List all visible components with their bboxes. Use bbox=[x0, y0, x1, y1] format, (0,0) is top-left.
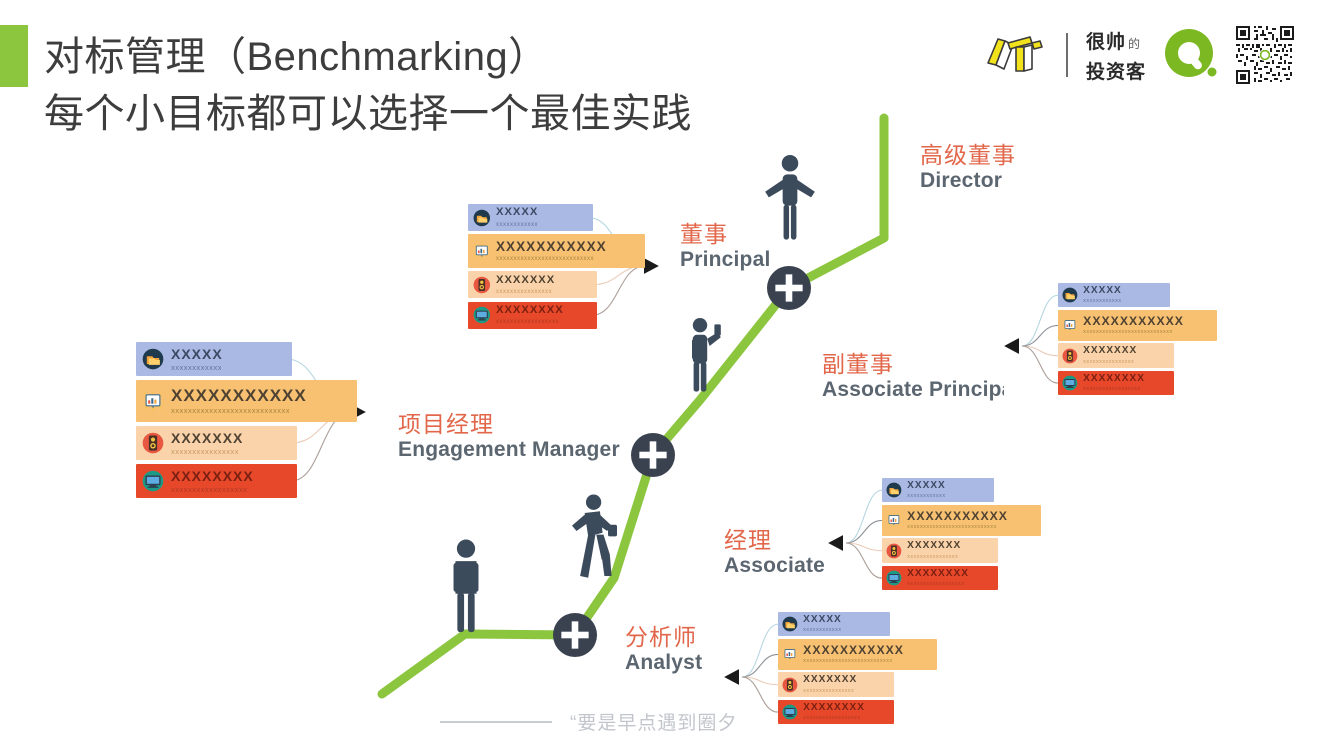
monitor-icon bbox=[473, 306, 491, 324]
card-text: XXXXXXXXxxxxxxxxxxxxxxxxxx bbox=[803, 703, 865, 721]
speaker-icon bbox=[782, 677, 798, 693]
green-q-logo-icon bbox=[1164, 28, 1218, 82]
card-subtitle: xxxxxxxxxxxxxxxx bbox=[496, 289, 555, 295]
role-label-director: 高级董事Director bbox=[920, 143, 1016, 195]
shuai-yellow-logo-icon bbox=[982, 29, 1048, 81]
card-connector-line bbox=[742, 677, 778, 685]
brand-divider bbox=[1066, 33, 1068, 77]
card-connector-line bbox=[1022, 325, 1058, 346]
card-item[interactable]: XXXXXXXXXXXxxxxxxxxxxxxxxxxxxxxxxxxxxxx bbox=[136, 380, 357, 422]
qr-code-icon bbox=[1236, 26, 1294, 84]
card-subtitle: xxxxxxxxxxxxxxxx bbox=[803, 689, 857, 694]
role-label-cn: 经理 bbox=[724, 528, 826, 553]
card-text: XXXXXXXxxxxxxxxxxxxxxxx bbox=[496, 275, 555, 295]
card-item[interactable]: XXXXXXXxxxxxxxxxxxxxxxx bbox=[882, 538, 998, 562]
title-line-2: 每个小目标都可以选择一个最佳实践 bbox=[44, 89, 692, 140]
role-label-en: Analyst bbox=[625, 650, 702, 676]
card-text: XXXXXXXXxxxxxxxxxxxxxxxxxx bbox=[496, 305, 564, 325]
card-subtitle: xxxxxxxxxxxxxxxx bbox=[907, 555, 961, 560]
brand-name-top-suffix: 的 bbox=[1128, 35, 1140, 52]
brand-name-bottom: 投资客 bbox=[1086, 57, 1146, 84]
card-connector-line bbox=[846, 543, 882, 551]
card-item[interactable]: XXXXXXXxxxxxxxxxxxxxxxx bbox=[468, 271, 597, 298]
figure-standing-top bbox=[765, 155, 815, 240]
card-text: XXXXXXXxxxxxxxxxxxxxxxx bbox=[907, 541, 961, 559]
card-title: XXXXX bbox=[171, 347, 223, 361]
card-title: XXXXXXX bbox=[496, 275, 555, 286]
group-associate: XXXXXxxxxxxxxxxxx XXXXXXXXXXXxxxxxxxxxxx… bbox=[882, 478, 1041, 593]
group-associate-principal: XXXXXxxxxxxxxxxxx XXXXXXXXXXXxxxxxxxxxxx… bbox=[1058, 283, 1217, 398]
card-item[interactable]: XXXXXXXxxxxxxxxxxxxxxxx bbox=[136, 426, 297, 460]
card-item[interactable]: XXXXXXXxxxxxxxxxxxxxxxx bbox=[778, 672, 894, 696]
card-text: XXXXXXXXxxxxxxxxxxxxxxxxxx bbox=[171, 469, 254, 494]
card-title: XXXXXXXXXXX bbox=[1083, 315, 1184, 327]
card-connector-line bbox=[742, 624, 778, 677]
group-principal: XXXXXxxxxxxxxxxxx XXXXXXXXXXXxxxxxxxxxxx… bbox=[468, 204, 645, 332]
card-title: XXXXXXX bbox=[1083, 346, 1137, 356]
card-item[interactable]: XXXXXXXXxxxxxxxxxxxxxxxxxx bbox=[778, 700, 894, 724]
card-item[interactable]: XXXXXxxxxxxxxxxxx bbox=[882, 478, 994, 502]
role-label-cn: 董事 bbox=[680, 222, 771, 247]
watermark-text: “要是早点遇到圈夕 bbox=[570, 708, 737, 735]
card-title: XXXXXXX bbox=[171, 431, 243, 445]
card-subtitle: xxxxxxxxxxxx bbox=[496, 222, 538, 228]
card-text: XXXXXxxxxxxxxxxxx bbox=[803, 615, 842, 633]
card-title: XXXXXXX bbox=[907, 541, 961, 551]
brand-cluster: 很帅 的 投资客 bbox=[982, 26, 1294, 84]
card-subtitle: xxxxxxxxxxxx bbox=[803, 628, 842, 633]
card-connector-line bbox=[846, 543, 882, 578]
card-title: XXXXXXXX bbox=[1083, 374, 1145, 384]
folder-icon bbox=[473, 209, 491, 227]
flow-arrowhead bbox=[828, 535, 843, 551]
card-item[interactable]: XXXXXXXXxxxxxxxxxxxxxxxxxx bbox=[468, 302, 597, 329]
card-text: XXXXXxxxxxxxxxxxx bbox=[907, 481, 946, 499]
monitor-icon bbox=[1062, 375, 1078, 391]
card-subtitle: xxxxxxxxxxxxxxxxxx bbox=[171, 486, 254, 494]
monitor-icon bbox=[142, 470, 164, 492]
title-line-1: 对标管理（Benchmarking） bbox=[44, 32, 692, 83]
card-title: XXXXX bbox=[803, 615, 842, 625]
brand-wordmark: 很帅 的 投资客 bbox=[1086, 27, 1146, 84]
card-connector-line bbox=[1022, 295, 1058, 346]
card-connector-line bbox=[742, 654, 778, 677]
card-subtitle: xxxxxxxxxxxxxxxxxxxxxxxxxxxx bbox=[496, 256, 607, 262]
card-text: XXXXXXXXXXXxxxxxxxxxxxxxxxxxxxxxxxxxxxx bbox=[496, 240, 607, 263]
node-analyst[interactable] bbox=[553, 613, 597, 657]
card-text: XXXXXXXXXXXxxxxxxxxxxxxxxxxxxxxxxxxxxxx bbox=[803, 644, 904, 665]
figure-standing-bottom bbox=[454, 540, 479, 633]
card-item[interactable]: XXXXXXXxxxxxxxxxxxxxxxx bbox=[1058, 343, 1174, 367]
card-title: XXXXX bbox=[907, 481, 946, 491]
figure-standing-middle bbox=[692, 318, 721, 392]
speaker-icon bbox=[1062, 348, 1078, 364]
card-title: XXXXXXXXXXX bbox=[496, 240, 607, 254]
role-label-en: Associate Principal bbox=[822, 377, 1004, 403]
card-subtitle: xxxxxxxxxxxxxxxxxxxxxxxxxxxx bbox=[171, 407, 307, 415]
card-item[interactable]: XXXXXXXXXXXxxxxxxxxxxxxxxxxxxxxxxxxxxxx bbox=[778, 639, 937, 669]
role-label-cn: 分析师 bbox=[625, 625, 702, 650]
folder-icon bbox=[142, 348, 164, 370]
page-title: 对标管理（Benchmarking） 每个小目标都可以选择一个最佳实践 bbox=[44, 32, 692, 140]
chart-board-icon bbox=[886, 513, 902, 529]
chart-board-icon bbox=[473, 242, 491, 260]
slide-canvas: 对标管理（Benchmarking） 每个小目标都可以选择一个最佳实践 很帅 的 bbox=[0, 0, 1334, 750]
flow-arrowhead bbox=[644, 258, 659, 274]
card-subtitle: xxxxxxxxxxxxxxxxxx bbox=[496, 319, 564, 325]
figure-walking bbox=[572, 495, 617, 578]
chart-board-icon bbox=[1062, 318, 1078, 334]
card-subtitle: xxxxxxxxxxxxxxxxxxxxxxxxxxxx bbox=[1083, 330, 1184, 335]
card-text: XXXXXXXXxxxxxxxxxxxxxxxxxx bbox=[907, 569, 969, 587]
role-label-cn: 副董事 bbox=[822, 352, 1004, 377]
card-title: XXXXXXXX bbox=[496, 305, 564, 316]
role-label-associate: 经理Associate bbox=[724, 528, 826, 580]
role-label-engagement-manager: 项目经理Engagement Manager bbox=[398, 412, 656, 464]
card-connector-line bbox=[1022, 346, 1058, 356]
card-connector-line bbox=[1022, 346, 1058, 383]
card-subtitle: xxxxxxxxxxxxxxxxxx bbox=[907, 582, 969, 587]
role-label-associate-principal: 副董事Associate Principal bbox=[822, 352, 1004, 404]
role-label-cn: 高级董事 bbox=[920, 143, 1016, 168]
card-title: XXXXXXXX bbox=[171, 469, 254, 483]
card-subtitle: xxxxxxxxxxxxxxxx bbox=[171, 448, 243, 456]
card-item[interactable]: XXXXXxxxxxxxxxxxx bbox=[1058, 283, 1170, 307]
folder-icon bbox=[886, 482, 902, 498]
card-title: XXXXX bbox=[1083, 286, 1122, 296]
card-item[interactable]: XXXXXXXXXXXxxxxxxxxxxxxxxxxxxxxxxxxxxxx bbox=[468, 234, 645, 268]
card-subtitle: xxxxxxxxxxxxxxxxxx bbox=[803, 716, 865, 721]
card-item[interactable]: XXXXXXXXxxxxxxxxxxxxxxxxxx bbox=[882, 566, 998, 590]
card-text: XXXXXXXXXXXxxxxxxxxxxxxxxxxxxxxxxxxxxxx bbox=[1083, 315, 1184, 336]
title-accent-bar bbox=[0, 25, 28, 87]
chart-board-icon bbox=[142, 390, 164, 412]
card-item[interactable]: XXXXXxxxxxxxxxxxx bbox=[136, 342, 292, 376]
folder-icon bbox=[782, 616, 798, 632]
group-engagement-manager: XXXXXxxxxxxxxxxxx XXXXXXXXXXXxxxxxxxxxxx… bbox=[136, 342, 357, 502]
group-analyst: XXXXXxxxxxxxxxxxx XXXXXXXXXXXxxxxxxxxxxx… bbox=[778, 612, 937, 727]
card-text: XXXXXXXxxxxxxxxxxxxxxxx bbox=[171, 431, 243, 456]
card-connector-line bbox=[846, 490, 882, 543]
role-label-en: Director bbox=[920, 168, 1016, 194]
card-text: XXXXXXXXXXXxxxxxxxxxxxxxxxxxxxxxxxxxxxx bbox=[907, 510, 1008, 531]
card-item[interactable]: XXXXXxxxxxxxxxxxx bbox=[468, 204, 593, 231]
card-text: XXXXXxxxxxxxxxxxx bbox=[171, 347, 223, 372]
card-title: XXXXXXXXXXX bbox=[171, 387, 307, 404]
card-item[interactable]: XXXXXXXXXXXxxxxxxxxxxxxxxxxxxxxxxxxxxxx bbox=[882, 505, 1041, 535]
card-item[interactable]: XXXXXXXXxxxxxxxxxxxxxxxxxx bbox=[1058, 371, 1174, 395]
card-text: XXXXXXXxxxxxxxxxxxxxxxx bbox=[803, 675, 857, 693]
node-principal[interactable] bbox=[767, 266, 811, 310]
role-label-cn: 项目经理 bbox=[398, 412, 656, 437]
card-title: XXXXXXXX bbox=[803, 703, 865, 713]
card-connector-line bbox=[742, 677, 778, 712]
role-label-en: Associate bbox=[724, 553, 826, 579]
speaker-icon bbox=[886, 543, 902, 559]
card-subtitle: xxxxxxxxxxxx bbox=[1083, 299, 1122, 304]
card-connector-line bbox=[846, 520, 882, 543]
watermark-line bbox=[440, 721, 552, 723]
card-subtitle: xxxxxxxxxxxx bbox=[907, 494, 946, 499]
role-label-principal: 董事Principal bbox=[680, 222, 771, 274]
card-subtitle: xxxxxxxxxxxx bbox=[171, 364, 223, 372]
card-title: XXXXXXXXXXX bbox=[907, 510, 1008, 522]
card-title: XXXXXXXX bbox=[907, 569, 969, 579]
card-subtitle: xxxxxxxxxxxxxxxx bbox=[1083, 360, 1137, 365]
flow-arrowhead bbox=[724, 669, 739, 685]
role-label-analyst: 分析师Analyst bbox=[625, 625, 702, 677]
card-item[interactable]: XXXXXXXXXXXxxxxxxxxxxxxxxxxxxxxxxxxxxxx bbox=[1058, 310, 1217, 340]
card-text: XXXXXxxxxxxxxxxxx bbox=[496, 207, 538, 227]
card-text: XXXXXXXXxxxxxxxxxxxxxxxxxx bbox=[1083, 374, 1145, 392]
speaker-icon bbox=[142, 432, 164, 454]
card-text: XXXXXXXxxxxxxxxxxxxxxxx bbox=[1083, 346, 1137, 364]
card-text: XXXXXXXXXXXxxxxxxxxxxxxxxxxxxxxxxxxxxxx bbox=[171, 387, 307, 415]
flow-arrowhead bbox=[1004, 338, 1019, 354]
monitor-icon bbox=[782, 704, 798, 720]
card-title: XXXXXXXXXXX bbox=[803, 644, 904, 656]
card-item[interactable]: XXXXXXXXxxxxxxxxxxxxxxxxxx bbox=[136, 464, 297, 498]
card-subtitle: xxxxxxxxxxxxxxxxxxxxxxxxxxxx bbox=[803, 659, 904, 664]
card-subtitle: xxxxxxxxxxxxxxxxxx bbox=[1083, 387, 1145, 392]
monitor-icon bbox=[886, 570, 902, 586]
folder-icon bbox=[1062, 287, 1078, 303]
card-title: XXXXXXX bbox=[803, 675, 857, 685]
brand-name-top: 很帅 bbox=[1086, 27, 1126, 54]
role-label-en: Principal bbox=[680, 247, 771, 273]
watermark: “要是早点遇到圈夕 bbox=[440, 708, 737, 735]
card-subtitle: xxxxxxxxxxxxxxxxxxxxxxxxxxxx bbox=[907, 525, 1008, 530]
card-text: XXXXXxxxxxxxxxxxx bbox=[1083, 286, 1122, 304]
speaker-icon bbox=[473, 276, 491, 294]
role-label-en: Engagement Manager bbox=[398, 437, 656, 463]
card-title: XXXXX bbox=[496, 207, 538, 218]
card-item[interactable]: XXXXXxxxxxxxxxxxx bbox=[778, 612, 890, 636]
chart-board-icon bbox=[782, 647, 798, 663]
